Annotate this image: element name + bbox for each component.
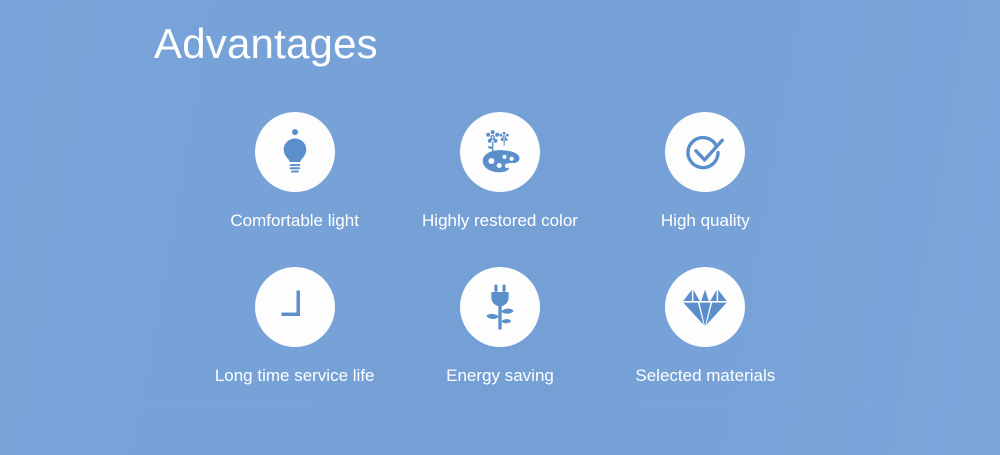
icon-circle [255, 267, 335, 347]
icon-circle [460, 112, 540, 192]
icon-circle [255, 112, 335, 192]
panel-seam-left [125, 0, 126, 455]
feature-item: Highly restored color [397, 112, 602, 267]
diamond-icon [681, 283, 729, 331]
clock-icon [271, 283, 319, 331]
feature-item: Selected materials [603, 267, 808, 422]
features-grid: Comfortable light [192, 112, 808, 422]
feature-label: Highly restored color [422, 210, 578, 232]
lightbulb-icon [271, 128, 319, 176]
feature-item: Long time service life [192, 267, 397, 422]
feature-label: Comfortable light [230, 210, 359, 232]
feature-label: High quality [661, 210, 750, 232]
feature-label: Selected materials [635, 365, 775, 387]
feature-item: High quality [603, 112, 808, 267]
icon-circle [665, 267, 745, 347]
feature-label: Energy saving [446, 365, 554, 387]
advantages-banner: Advantages [0, 0, 1000, 455]
panel-seam-right [870, 0, 871, 455]
plug-plant-icon [476, 283, 524, 331]
feature-label: Long time service life [215, 365, 375, 387]
feature-item: Energy saving [397, 267, 602, 422]
icon-circle [460, 267, 540, 347]
icon-circle [665, 112, 745, 192]
feature-item: Comfortable light [192, 112, 397, 267]
check-circle-icon [681, 128, 729, 176]
paint-palette-icon [476, 128, 524, 176]
page-title: Advantages [154, 18, 378, 70]
